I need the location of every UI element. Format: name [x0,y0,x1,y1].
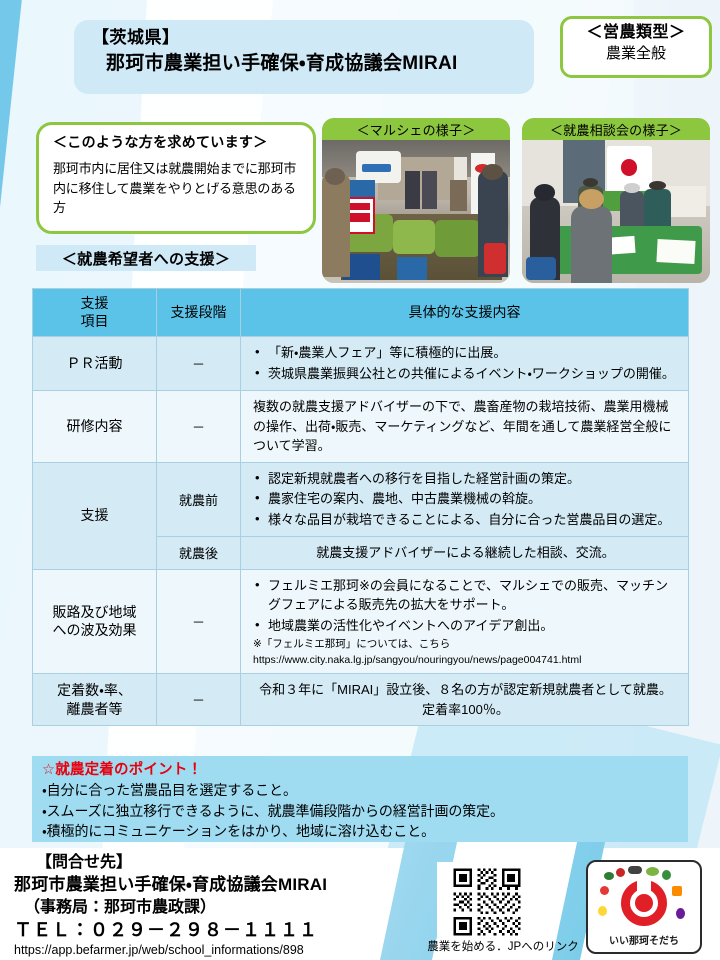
row-item-line1: 販路及び地域 [34,603,155,622]
row-detail-text: 令和３年に「MIRAI」設立後、８名の方が認定新規就農者として就農。定着率100… [253,680,678,719]
photo-image-consultation [522,140,710,283]
poster-page: 【茨城県】 那珂市農業担い手確保・育成協議会MIRAI ＜営農類型＞ 農業全般 … [0,0,720,960]
logo-vegetable-icon [628,866,642,874]
photo-card-marche: ＜マルシェの様子＞ [322,118,510,283]
contact-block: 【問合せ先】 那珂市農業担い手確保・育成協議会MIRAI （事務局：那珂市農政課… [14,852,434,959]
row-item-retention: 定着数・率、 離農者等 [33,674,157,726]
key-point-line: ・自分に合った営農品目を選定すること。 [42,780,688,800]
qr-code[interactable] [437,862,537,942]
row-stage-pr: － [157,337,241,391]
row-detail-before: 認定新規就農者への移行を目指した経営計画の策定。 農家住宅の案内、農地、中古農業… [241,462,689,537]
fermier-note: ※「フェルミエ那珂」については、こちら [253,637,678,651]
row-item-training: 研修内容 [33,391,157,463]
page-title: 【茨城県】 那珂市農業担い手確保・育成協議会MIRAI [74,20,534,94]
photo-caption-marche: ＜マルシェの様子＞ [322,118,510,140]
row-item-sales-channel: 販路及び地域 への波及効果 [33,569,157,674]
row-stage-sales-channel: － [157,569,241,674]
logo-vegetable-icon [598,906,607,916]
column-header-item: 支援 項目 [33,289,157,337]
table-row: ＰＲ活動 － 「新・農業人フェア」等に積極的に出展。 茨城県農業振興公社との共催… [33,337,689,391]
row-item-line1: 定着数・率、 [34,681,155,700]
row-item-line2: への波及効果 [34,621,155,640]
logo-text: いい那珂そだち [588,932,700,947]
row-stage-training: － [157,391,241,463]
key-point-line: ・積極的にコミュニケーションをはかり、地域に溶け込むこと。 [42,821,688,841]
table-row: 支援 就農前 認定新規就農者への移行を目指した経営計画の策定。 農家住宅の案内、… [33,462,689,537]
support-table-wrapper: 支援 項目 支援段階 具体的な支援内容 ＰＲ活動 － 「新・ [32,288,688,726]
farming-type-box: ＜営農類型＞ 農業全般 [560,16,712,78]
logo-ring-gap [637,878,651,894]
logo-vegetable-icon [672,886,682,896]
contact-office: （事務局：那珂市農政課） [14,897,434,919]
contact-label: 【問合せ先】 [14,852,434,874]
photo-caption-consultation: ＜就農相談会の様子＞ [522,118,710,140]
row-item-line2: 離農者等 [34,700,155,719]
row-stage-retention: － [157,674,241,726]
bullet-item: 「新・農業人フェア」等に積極的に出展。 [253,343,678,363]
table-row: 販路及び地域 への波及効果 － フェルミエ那珂※の会員になることで、マルシェでの… [33,569,689,674]
fermier-note-url[interactable]: https://www.city.naka.lg.jp/sangyou/nour… [253,653,678,667]
seeking-body: 那珂市内に居住又は就農開始までに那珂市内に移住して農業をやりとげる意思のある方 [53,159,303,218]
column-header-stage: 支援段階 [157,289,241,337]
contact-url[interactable]: https://app.befarmer.jp/web/school_infor… [14,942,434,958]
row-stage-before: 就農前 [157,462,241,537]
column-header-detail: 具体的な支援内容 [241,289,689,337]
logo-vegetable-icon [646,867,659,876]
row-detail-after: 就農支援アドバイザーによる継続した相談、交流。 [241,537,689,570]
row-detail-text: 複数の就農支援アドバイザーの下で、農畜産物の栽培技術、農業用機械の操作、出荷・販… [253,397,678,456]
bullet-item: 認定新規就農者への移行を目指した経営計画の策定。 [253,469,678,489]
column-header-item-line1: 支援 [34,295,155,313]
row-detail-retention: 令和３年に「MIRAI」設立後、８名の方が認定新規就農者として就農。定着率100… [241,674,689,726]
logo-vegetable-icon [604,872,614,880]
contact-telephone: ＴＥＬ：０２９－２９８－１１１１ [14,918,434,942]
key-points-box: ☆就農定着のポイント！ ・自分に合った営農品目を選定すること。 ・スムーズに独立… [32,756,688,842]
seeking-applicants-box: ＜このような方を求めています＞ 那珂市内に居住又は就農開始までに那珂市内に移住し… [36,122,316,234]
column-header-item-line2: 項目 [34,313,155,331]
naka-city-logo: いい那珂そだち [586,860,702,954]
row-detail-sales-channel: フェルミエ那珂※の会員になることで、マルシェでの販売、マッチングフェアによる販売… [241,569,689,674]
support-table: 支援 項目 支援段階 具体的な支援内容 ＰＲ活動 － 「新・ [32,288,689,726]
bullet-item: 茨城県農業振興公社との共催によるイベント・ワークショップの開催。 [253,364,678,384]
row-item-pr: ＰＲ活動 [33,337,157,391]
row-detail-pr: 「新・農業人フェア」等に積極的に出展。 茨城県農業振興公社との共催によるイベント… [241,337,689,391]
photo-image-marche [322,140,510,283]
support-section-heading: ＜就農希望者への支援＞ [36,245,256,271]
table-row: 定着数・率、 離農者等 － 令和３年に「MIRAI」設立後、８名の方が認定新規就… [33,674,689,726]
key-point-line: ・スムーズに独立移行できるように、就農準備段階からの経営計画の策定。 [42,801,688,821]
logo-vegetable-icon [600,886,609,895]
row-detail-text: 就農支援アドバイザーによる継続した相談、交流。 [253,543,678,563]
row-stage-after: 就農後 [157,537,241,570]
row-item-support: 支援 [33,462,157,569]
table-row: 研修内容 － 複数の就農支援アドバイザーの下で、農畜産物の栽培技術、農業用機械の… [33,391,689,463]
farming-type-value: 農業全般 [563,44,709,64]
photo-card-consultation: ＜就農相談会の様子＞ [522,118,710,283]
key-points-heading: ☆就農定着のポイント！ [42,760,688,780]
qr-code-caption: 農業を始める．JPへのリンク [408,938,598,954]
bullet-item: 農家住宅の案内、農地、中古農業機械の斡旋。 [253,489,678,509]
seeking-heading: ＜このような方を求めています＞ [53,132,303,152]
logo-vegetable-icon [662,870,671,880]
farming-type-label: ＜営農類型＞ [563,23,709,44]
bullet-item: 地域農業の活性化やイベントへのアイデア創出。 [253,616,678,636]
prefecture-label: 【茨城県】 [92,26,524,51]
logo-vegetable-icon [616,868,625,877]
contact-organization: 那珂市農業担い手確保・育成協議会MIRAI [14,874,434,897]
bullet-item: 様々な品目が栽培できることによる、自分に合った営農品目の選定。 [253,510,678,530]
logo-vegetable-icon [676,908,685,919]
qr-code-image [438,863,536,941]
row-detail-training: 複数の就農支援アドバイザーの下で、農畜産物の栽培技術、農業用機械の操作、出荷・販… [241,391,689,463]
table-header-row: 支援 項目 支援段階 具体的な支援内容 [33,289,689,337]
bullet-item: フェルミエ那珂※の会員になることで、マルシェでの販売、マッチングフェアによる販売… [253,576,678,615]
organization-name: 那珂市農業担い手確保・育成協議会MIRAI [92,51,524,77]
